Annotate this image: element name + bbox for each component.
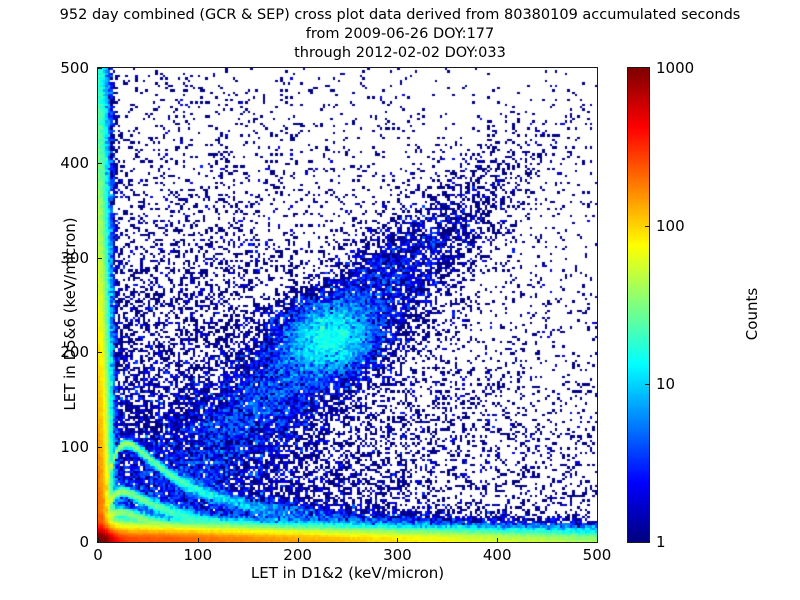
title-line-2: from 2009-06-26 DOY:177 — [0, 25, 800, 44]
colorbar-tick-label: 1 — [656, 533, 666, 551]
chart-title: 952 day combined (GCR & SEP) cross plot … — [0, 6, 800, 63]
colorbar-gradient — [628, 68, 649, 542]
x-tick-label: 100 — [183, 546, 212, 564]
figure-root: 952 day combined (GCR & SEP) cross plot … — [0, 0, 800, 600]
x-tick-mark — [98, 538, 99, 542]
colorbar — [627, 67, 650, 543]
y-tick-mark — [98, 447, 102, 448]
x-tick-mark — [198, 538, 199, 542]
y-tick-label: 500 — [9, 59, 89, 77]
y-tick-mark — [98, 68, 102, 69]
x-tick-label: 300 — [383, 546, 412, 564]
colorbar-tick-mark — [645, 226, 649, 227]
plot-area — [97, 67, 598, 543]
x-tick-label: 0 — [93, 546, 103, 564]
x-tick-mark — [298, 538, 299, 542]
colorbar-tick-mark — [645, 384, 649, 385]
density-scatter-canvas — [98, 68, 597, 542]
title-line-1: 952 day combined (GCR & SEP) cross plot … — [0, 6, 800, 25]
y-tick-mark — [98, 258, 102, 259]
x-tick-label: 200 — [283, 546, 312, 564]
x-tick-mark — [597, 538, 598, 542]
colorbar-tick-label: 10 — [656, 375, 675, 393]
y-axis-label: LET in D5&6 (keV/micron) — [61, 76, 79, 552]
y-tick-mark — [98, 163, 102, 164]
colorbar-tick-label: 100 — [656, 217, 685, 235]
x-tick-mark — [497, 538, 498, 542]
x-tick-mark — [397, 538, 398, 542]
y-tick-mark — [98, 542, 102, 543]
y-tick-mark — [98, 352, 102, 353]
x-tick-label: 500 — [583, 546, 612, 564]
colorbar-label: Counts — [743, 164, 761, 464]
colorbar-tick-label: 1000 — [656, 59, 694, 77]
x-tick-label: 400 — [483, 546, 512, 564]
x-axis-label: LET in D1&2 (keV/micron) — [97, 564, 598, 582]
